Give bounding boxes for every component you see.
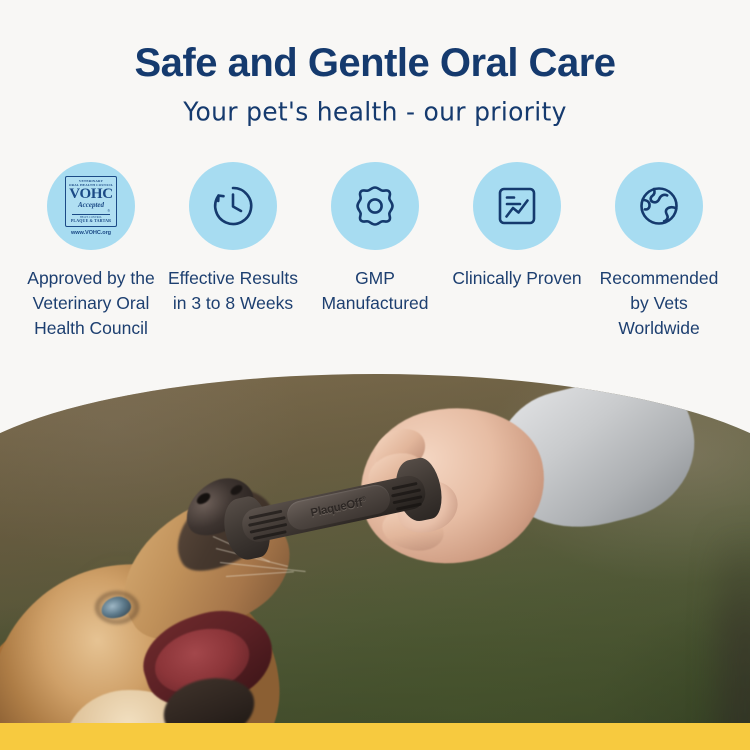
badge-circle-report [473,162,561,250]
benefit-label-recommended-by-vets: Recommended by Vets Worldwide [588,266,730,341]
benefit-item-effective-results: Effective Results in 3 to 8 Weeks [162,162,304,316]
vohc-url: www.VOHC.org [71,230,111,236]
vohc-wordmark: VOHC [69,187,113,202]
header: Safe and Gentle Oral Care Your pet's hea… [0,0,750,126]
badge-circle-gear [331,162,419,250]
hero-photo: PlaqueOff® [0,374,750,723]
benefit-item-vohc: VETERINARY ORAL HEALTH COUNCIL VOHC Acce… [20,162,162,341]
badge-circle-clock [189,162,277,250]
benefit-item-gmp: GMP Manufactured [304,162,446,316]
promo-banner: Safe and Gentle Oral Care Your pet's hea… [0,0,750,750]
gear-icon [350,181,400,231]
page-subtitle: Your pet's health - our priority [0,96,750,126]
benefit-item-clinically-proven: Clinically Proven [446,162,588,291]
chew-toy-brand-text: PlaqueOff® [310,496,368,520]
globe-icon [634,181,684,231]
benefit-item-recommended-by-vets: Recommended by Vets Worldwide [588,162,730,341]
benefit-label-gmp: GMP Manufactured [304,266,446,316]
badge-circle-globe [615,162,703,250]
background-blur-strip [718,524,750,723]
vohc-plaque-tartar: PLAQUE & TARTAR [71,219,111,224]
chart-report-icon [492,181,542,231]
page-title: Safe and Gentle Oral Care [0,42,750,84]
vohc-divider [72,214,110,215]
hero-photo-image: PlaqueOff® [0,374,750,723]
vohc-registered-mark: ® [108,210,111,213]
vohc-seal-icon: VETERINARY ORAL HEALTH COUNCIL VOHC Acce… [61,176,121,236]
vohc-accepted: Accepted [78,202,104,209]
footer-accent-bar [0,723,750,750]
benefits-row: VETERINARY ORAL HEALTH COUNCIL VOHC Acce… [0,162,750,341]
benefit-label-vohc: Approved by the Veterinary Oral Health C… [20,266,162,341]
badge-circle-vohc: VETERINARY ORAL HEALTH COUNCIL VOHC Acce… [47,162,135,250]
benefit-label-effective-results: Effective Results in 3 to 8 Weeks [162,266,304,316]
clock-arrow-icon [208,181,258,231]
benefit-label-clinically-proven: Clinically Proven [450,266,583,291]
